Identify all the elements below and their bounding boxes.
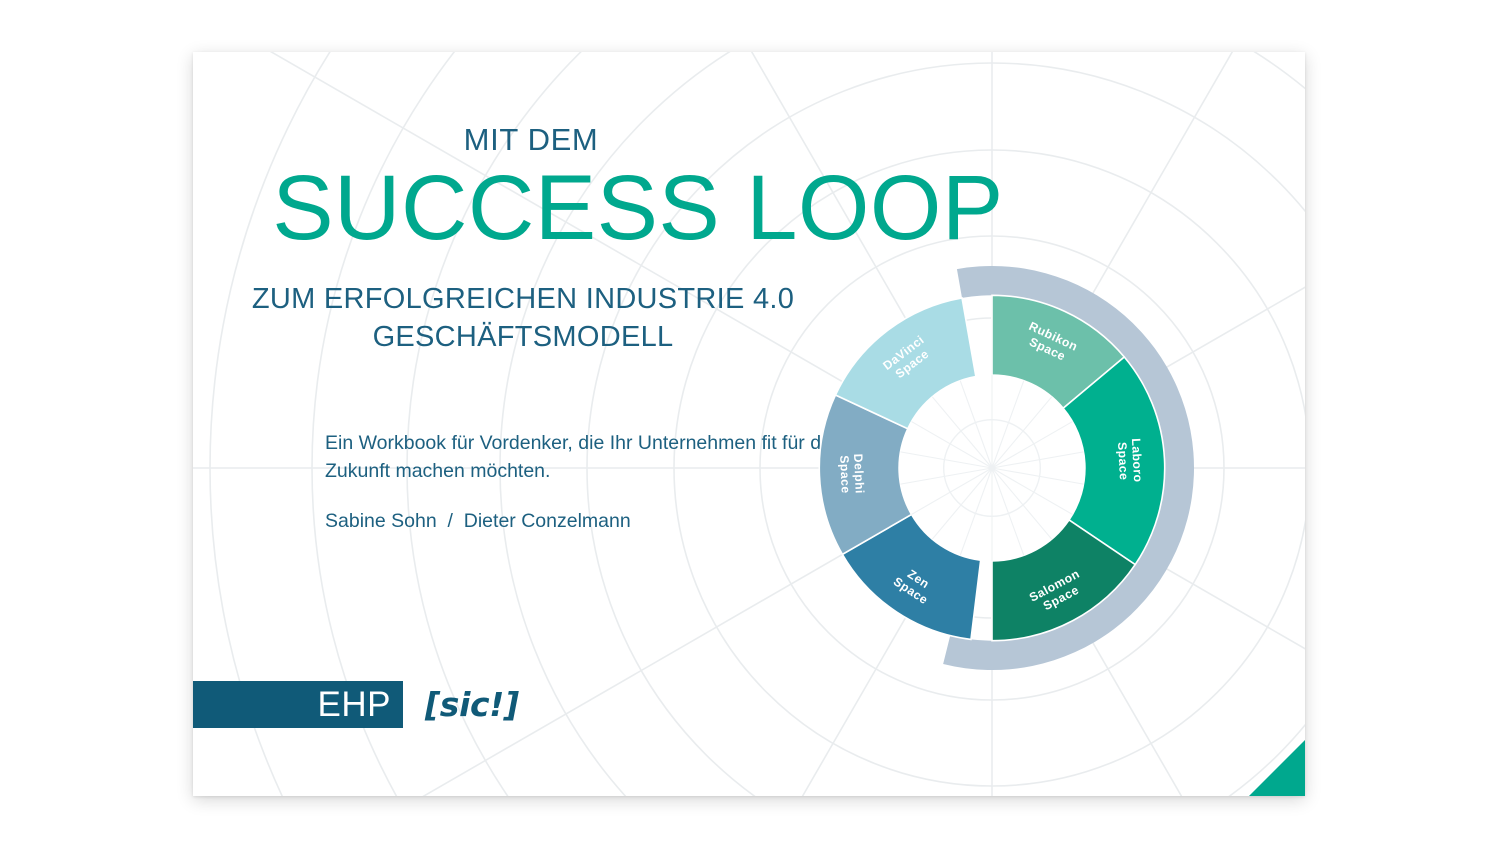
cover-kicker: MIT DEM	[193, 122, 869, 158]
publisher-logo: EHP [sic!]	[193, 681, 519, 728]
svg-text:Space: Space	[837, 455, 853, 494]
book-cover: MIT DEM SUCCESS LOOP ZUM ERFOLGREICHEN I…	[193, 52, 1305, 796]
wheel-segment-label: LaboroSpace	[1115, 438, 1145, 484]
publisher-imprint-name: EHP	[317, 687, 391, 722]
cover-blurb: Ein Workbook für Vordenker, die Ihr Unte…	[325, 430, 845, 485]
page-title: SUCCESS LOOP	[193, 162, 1083, 254]
cover-subtitle: ZUM ERFOLGREICHEN INDUSTRIE 4.0 GESCHÄFT…	[193, 280, 853, 357]
screenshot-stage: MIT DEM SUCCESS LOOP ZUM ERFOLGREICHEN I…	[0, 0, 1500, 844]
svg-text:Space: Space	[1115, 442, 1131, 481]
wheel-hub	[899, 375, 1085, 561]
corner-accent-triangle	[1249, 740, 1305, 796]
success-loop-wheel: RubikonSpaceLaboroSpaceSalomonSpaceZenSp…	[790, 266, 1194, 670]
publisher-logo-bar: EHP	[193, 681, 403, 728]
wheel-segment-label: DelphiSpace	[837, 453, 867, 494]
cover-authors: Sabine Sohn / Dieter Conzelmann	[325, 510, 845, 533]
publisher-imprint-mark: [sic!]	[425, 688, 519, 721]
